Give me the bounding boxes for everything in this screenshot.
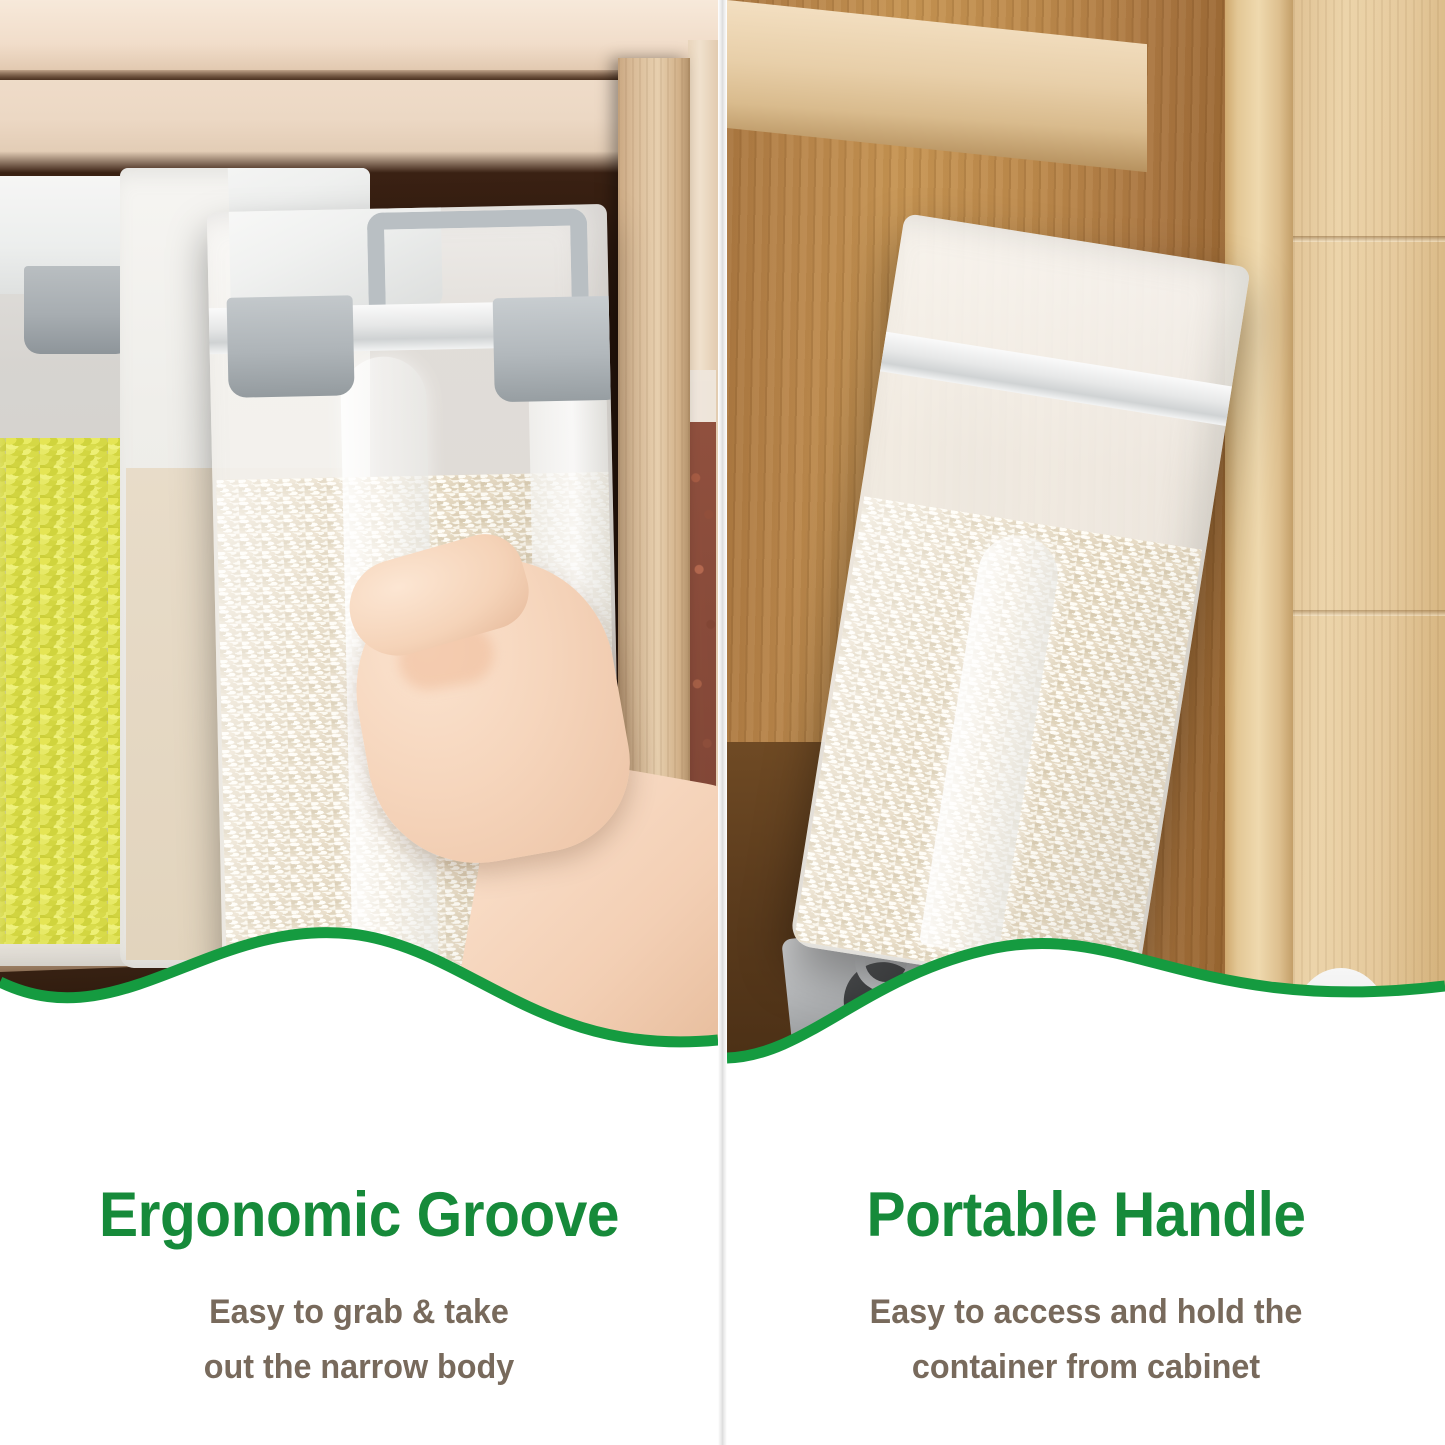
subtitle-line-2: out the narrow body <box>18 1340 700 1395</box>
side-clip-right-icon <box>493 296 624 403</box>
human-hand-grabbing <box>360 520 718 1080</box>
side-clip-icon <box>24 266 132 354</box>
panel-seam-upper <box>1293 236 1445 242</box>
lid-collar <box>880 332 1232 426</box>
feature-panel-portable-handle: Portable Handle Easy to access and hold … <box>727 0 1445 1445</box>
product-photo-ergonomic-groove <box>0 0 718 1080</box>
caption-block-ergonomic-groove: Ergonomic Groove Easy to grab & take out… <box>0 1080 718 1445</box>
panel-divider <box>718 0 727 1445</box>
caption-block-portable-handle: Portable Handle Easy to access and hold … <box>727 1080 1445 1445</box>
cabinet-right-panel <box>1293 0 1445 1080</box>
subtitle-line-1: Easy to access and hold the <box>745 1285 1427 1340</box>
subtitle-line-1: Easy to grab & take <box>18 1285 700 1340</box>
subtitle-line-2: container from cabinet <box>745 1340 1427 1395</box>
panel-subtitle: Easy to grab & take out the narrow body <box>18 1285 700 1395</box>
panel-seam-lower <box>1293 610 1445 616</box>
panel-headline: Portable Handle <box>752 1184 1420 1247</box>
feature-panel-ergonomic-groove: Ergonomic Groove Easy to grab & take out… <box>0 0 718 1445</box>
cabinet-door-stile <box>1225 0 1295 1080</box>
infographic-canvas: Ergonomic Groove Easy to grab & take out… <box>0 0 1445 1445</box>
side-clip-left-icon <box>227 295 355 398</box>
product-photo-portable-handle <box>727 0 1445 1080</box>
white-base-object <box>1293 968 1389 1080</box>
panel-subtitle: Easy to access and hold the container fr… <box>745 1285 1427 1395</box>
panel-headline: Ergonomic Groove <box>25 1184 693 1247</box>
cabinet-top-shelf <box>0 0 718 80</box>
